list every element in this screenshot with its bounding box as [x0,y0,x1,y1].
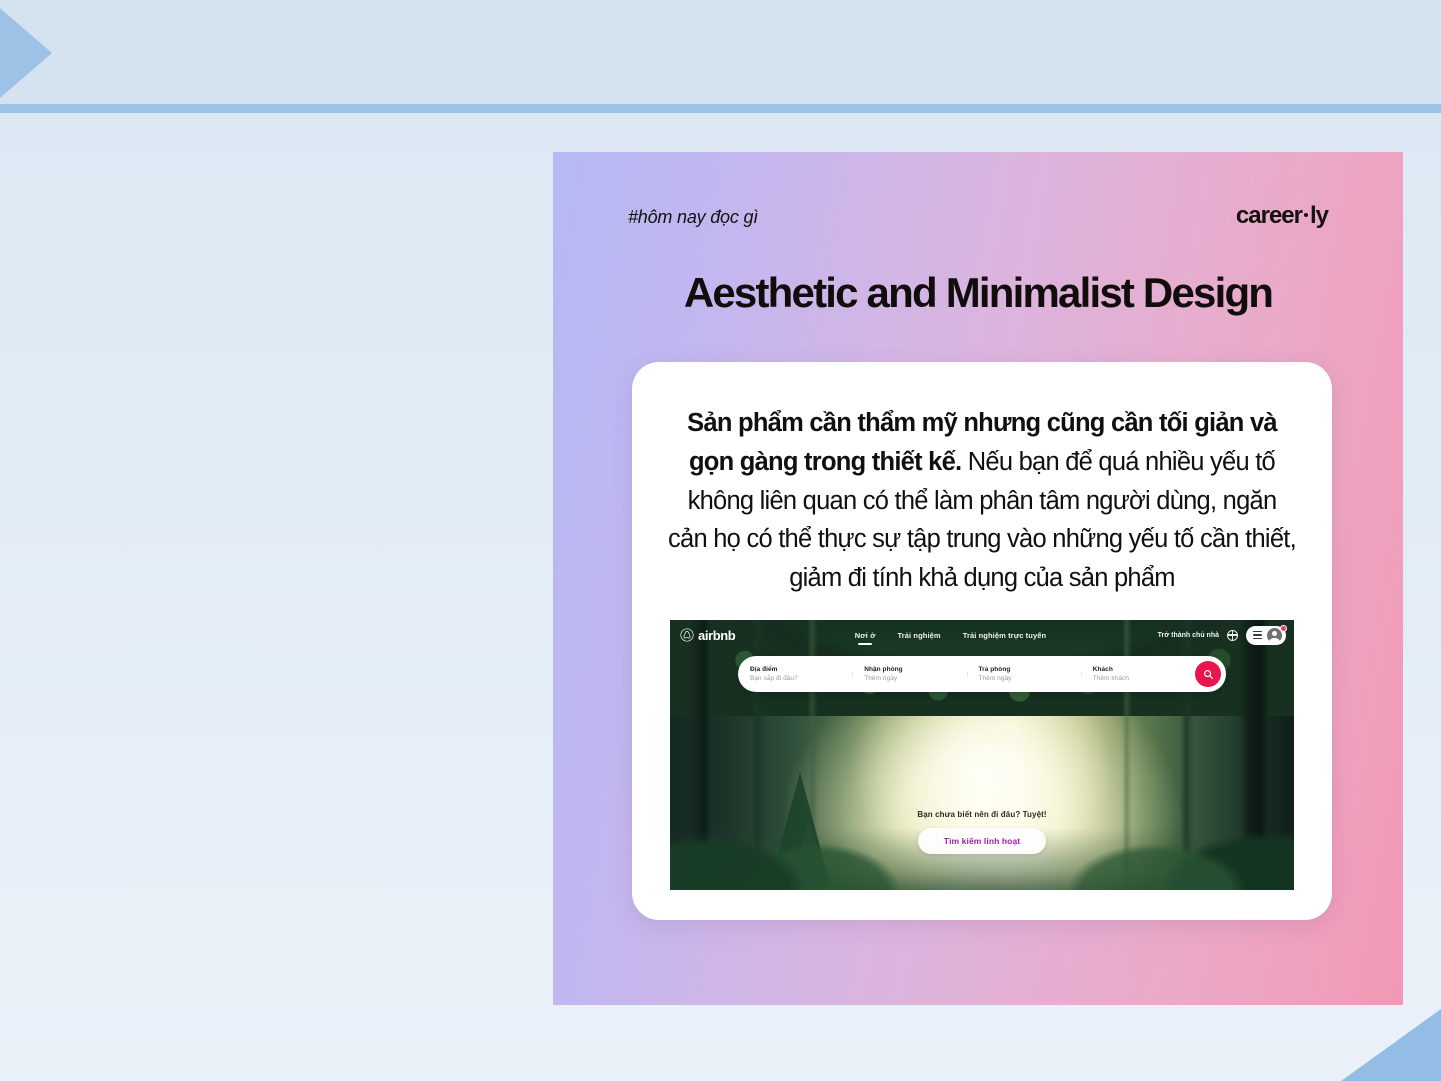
slide-canvas: #hôm nay đọc gì careerly Aesthetic and M… [0,0,1441,1081]
flexible-search-prompt: Bạn chưa biết nên đi đâu? Tuyệt! [670,810,1294,819]
page-title: Aesthetic and Minimalist Design [553,270,1403,316]
search-field-checkin-label: Nhận phòng [864,666,954,673]
brand-logo-second: ly [1310,202,1328,229]
search-field-checkout[interactable]: Trả phòng Thêm ngày [967,666,1081,682]
search-submit-button[interactable] [1195,661,1221,687]
flexible-search-button[interactable]: Tìm kiếm linh hoạt [918,828,1046,854]
airbnb-belo-icon [680,628,694,642]
search-field-checkin[interactable]: Nhận phòng Thêm ngày [852,666,966,682]
body-paragraph: Sản phẩm cần thẩm mỹ nhưng cũng cần tối … [668,404,1296,598]
brand-logo: careerly [1236,202,1328,230]
airbnb-nav-right: Trở thành chủ nhà [1158,626,1286,645]
search-field-checkin-value: Thêm ngày [864,675,954,682]
content-card: Sản phẩm cần thẩm mỹ nhưng cũng cần tối … [632,362,1332,920]
embedded-airbnb-screenshot: airbnb Nơi ở Trải nghiệm Trải nghiệm trự… [670,620,1294,890]
airbnb-navbar: airbnb Nơi ở Trải nghiệm Trải nghiệm trự… [670,620,1294,650]
nav-link-trai-nghiem-truc-tuyen[interactable]: Trải nghiệm trực tuyến [963,631,1046,640]
user-menu-button[interactable] [1246,626,1286,645]
search-field-location-value: Bạn sắp đi đâu? [750,675,840,682]
top-divider-rule [0,104,1441,113]
decorative-arrow-icon [0,8,52,98]
airbnb-search-bar: Địa điểm Bạn sắp đi đâu? Nhận phòng Thêm… [738,656,1226,692]
hashtag-label: #hôm nay đọc gì [628,207,758,228]
search-field-checkout-value: Thêm ngày [979,675,1069,682]
brand-logo-first: career [1236,202,1302,229]
search-field-location-label: Địa điểm [750,666,840,673]
slide-header: #hôm nay đọc gì careerly [628,202,1328,230]
nav-link-noi-o[interactable]: Nơi ở [855,631,876,640]
search-field-guests[interactable]: Khách Thêm khách [1081,666,1195,682]
search-field-guests-value: Thêm khách [1093,675,1183,682]
airbnb-logo[interactable]: airbnb [680,628,735,643]
top-background-band [0,0,1441,104]
flexible-search-cta: Bạn chưa biết nên đi đâu? Tuyệt! Tìm kiế… [670,810,1294,854]
search-field-guests-label: Khách [1093,666,1183,673]
slide-card: #hôm nay đọc gì careerly Aesthetic and M… [553,152,1403,1005]
airbnb-nav-links: Nơi ở Trải nghiệm Trải nghiệm trực tuyến [743,631,1157,640]
search-field-checkout-label: Trả phòng [979,666,1069,673]
brand-logo-dot-icon [1304,213,1308,217]
decorative-corner-triangle-icon [1341,1009,1441,1081]
globe-icon[interactable] [1227,630,1238,641]
hamburger-menu-icon [1253,631,1262,639]
search-field-location[interactable]: Địa điểm Bạn sắp đi đâu? [738,666,852,682]
notification-badge-icon [1280,625,1287,632]
nav-link-trai-nghiem[interactable]: Trải nghiệm [898,631,941,640]
search-icon [1203,669,1214,680]
become-host-link[interactable]: Trở thành chủ nhà [1158,632,1219,639]
airbnb-wordmark: airbnb [698,628,735,643]
